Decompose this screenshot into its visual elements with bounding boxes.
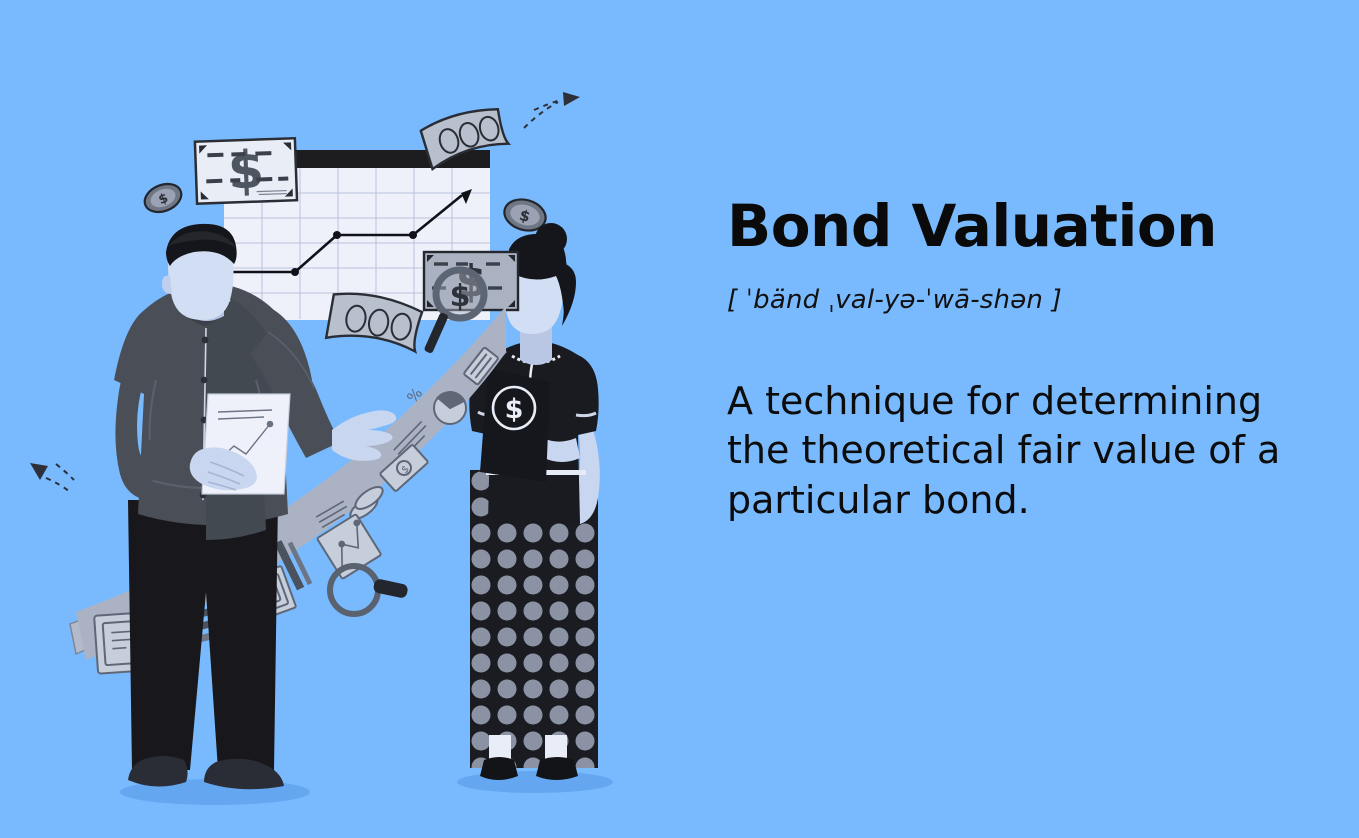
coin-dollar-left: $ xyxy=(141,179,186,217)
dashed-arrow-top xyxy=(524,100,560,128)
woman-hair-bun xyxy=(535,223,567,255)
page-title: Bond Valuation xyxy=(727,196,1327,257)
woman-shadow xyxy=(457,771,613,793)
definition-text: A technique for determining the theoreti… xyxy=(727,377,1312,525)
chart-point xyxy=(409,231,417,239)
dollar-folder: $ xyxy=(480,368,550,482)
arrow-head-bottom-left xyxy=(30,463,48,480)
banknote-dollar-top-left: $ xyxy=(195,138,297,203)
svg-text:$: $ xyxy=(450,279,471,314)
illustration-card: $ xyxy=(0,0,1359,838)
chart-point xyxy=(291,268,299,276)
arrow-head-top xyxy=(563,92,580,106)
dashed-arrow-bottom-left xyxy=(46,464,74,492)
svg-text:$: $ xyxy=(505,394,524,425)
definition-text-block: Bond Valuation [ ˈbänd ˌval-yə-ˈwā-shən … xyxy=(727,196,1327,525)
phonetic-transcription: [ ˈbänd ˌval-yə-ˈwā-shən ] xyxy=(727,285,1327,315)
woman-shoe-left xyxy=(480,757,518,780)
chart-point xyxy=(333,231,341,239)
svg-text:$: $ xyxy=(227,140,265,201)
illustration: $ xyxy=(0,0,700,838)
woman-shoe-right xyxy=(536,757,578,780)
